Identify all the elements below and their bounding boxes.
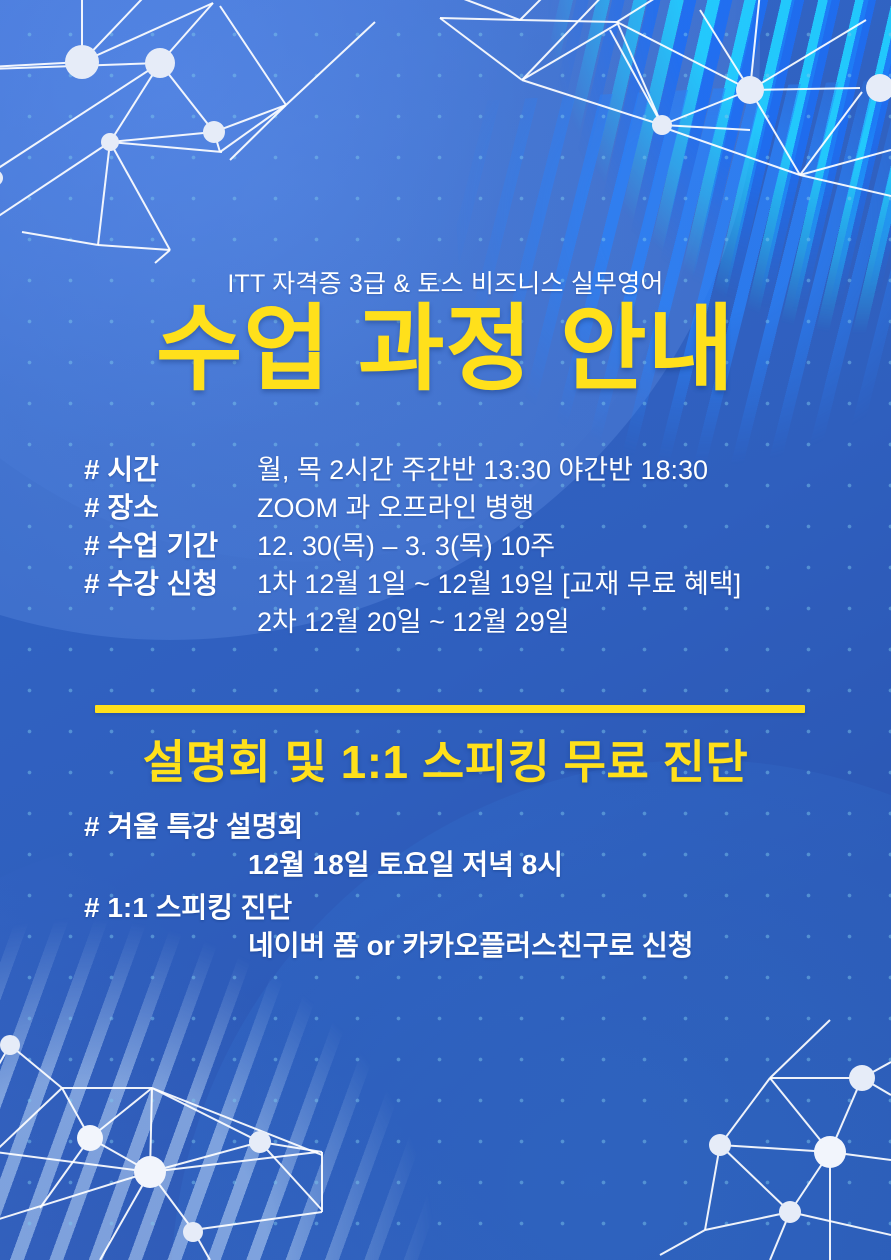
info-value-place: ZOOM 과 오프라인 병행 [257, 486, 534, 525]
info-row: # 수강 신청 1차 12월 1일 ~ 12월 19일 [교재 무료 혜택] [84, 562, 864, 600]
info-value-time: 월, 목 2시간 주간반 13:30 야간반 18:30 [257, 448, 708, 487]
event-item: # 1:1 스피킹 진단 네이버 폼 or 카카오플러스친구로 신청 [84, 889, 874, 964]
events-list: # 겨울 특강 설명회 12월 18일 토요일 저녁 8시 # 1:1 스피킹 … [84, 808, 874, 970]
poster-subtitle: ITT 자격증 3급 & 토스 비즈니스 실무영어 [0, 264, 891, 300]
poster-canvas: ITT 자격증 3급 & 토스 비즈니스 실무영어 수업 과정 안내 # 시간 … [0, 0, 891, 1260]
poster-headline: 수업 과정 안내 [0, 300, 891, 399]
event-title-winter-briefing: # 겨울 특강 설명회 [84, 808, 874, 846]
info-value-registration: 1차 12월 1일 ~ 12월 19일 [교재 무료 혜택] [257, 562, 741, 601]
event-detail-winter-briefing: 12월 18일 토요일 저녁 8시 [84, 846, 874, 884]
info-row: # 장소 ZOOM 과 오프라인 병행 [84, 486, 864, 524]
info-label-place: # 장소 [84, 486, 257, 526]
info-label-period: # 수업 기간 [84, 524, 257, 564]
yellow-divider-line [95, 705, 805, 713]
info-row-continuation: 2차 12월 20일 ~ 12월 29일 [84, 600, 864, 640]
info-label-registration: # 수강 신청 [84, 562, 257, 602]
event-detail-speaking-diagnosis: 네이버 폼 or 카카오플러스친구로 신청 [84, 927, 874, 965]
info-row: # 수업 기간 12. 30(목) – 3. 3(목) 10주 [84, 524, 864, 562]
info-value-registration-second: 2차 12월 20일 ~ 12월 29일 [257, 600, 570, 639]
section-heading: 설명회 및 1:1 스피킹 무료 진단 [0, 726, 891, 792]
course-info-list: # 시간 월, 목 2시간 주간반 13:30 야간반 18:30 # 장소 Z… [84, 448, 864, 640]
poster-content: ITT 자격증 3급 & 토스 비즈니스 실무영어 수업 과정 안내 # 시간 … [0, 0, 891, 1260]
info-label-time: # 시간 [84, 448, 257, 488]
event-item: # 겨울 특강 설명회 12월 18일 토요일 저녁 8시 [84, 808, 874, 883]
info-row: # 시간 월, 목 2시간 주간반 13:30 야간반 18:30 [84, 448, 864, 486]
info-value-period: 12. 30(목) – 3. 3(목) 10주 [257, 524, 555, 563]
event-title-speaking-diagnosis: # 1:1 스피킹 진단 [84, 889, 874, 927]
